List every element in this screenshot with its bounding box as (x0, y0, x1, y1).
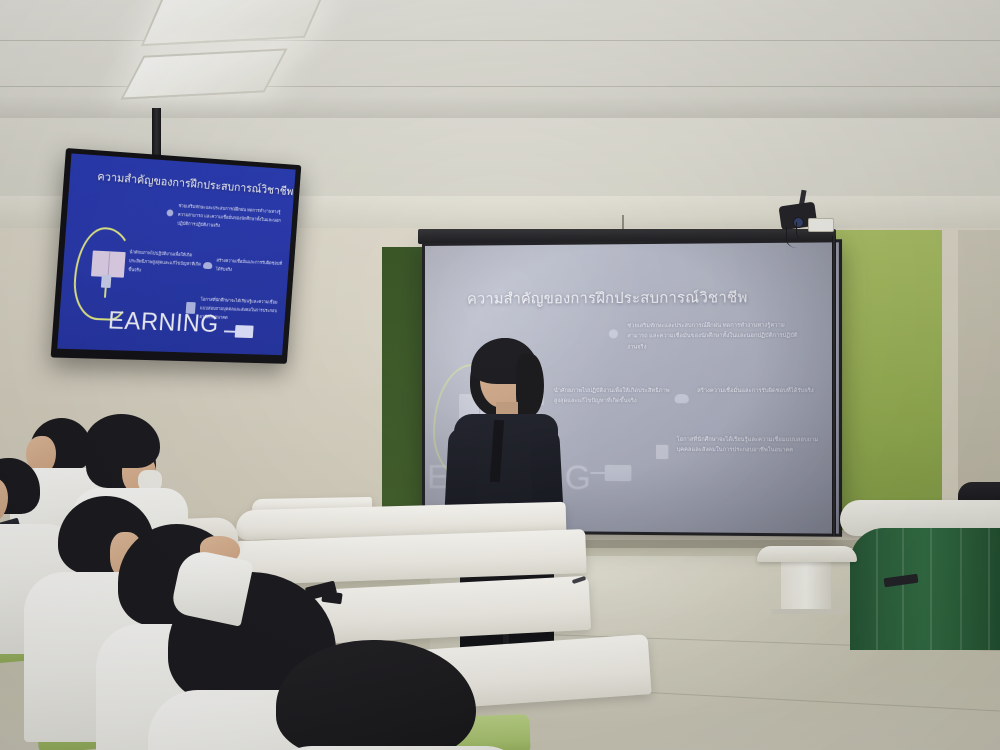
side-table-leg (781, 559, 831, 613)
tv-slide-title: ความสำคัญของการฝึกประสบการณ์วิชาชีพ (97, 168, 294, 201)
projected-block-4-text: โอกาสที่นักศึกษาจะได้เรียนรู้และความเชื่… (677, 435, 823, 457)
projector-drop-pole (832, 236, 836, 536)
small-white-side-table (757, 546, 857, 616)
podium-rib (876, 528, 878, 650)
wall-panel-dark-green (382, 247, 424, 547)
classroom-scene: ความสำคัญของการฝึกประสบการณ์วิชาชีพ ช่วย… (0, 0, 1000, 750)
ceiling-mounted-projector (776, 196, 832, 240)
cloud-icon (203, 262, 213, 269)
side-table-foot (771, 609, 843, 614)
tv-block-1-text: ช่วยเสริมทักษะและประสบการณ์ฝึกฝน ทดการทำ… (177, 202, 287, 234)
plug-icon (235, 325, 254, 338)
student-hair (276, 640, 476, 750)
student-hair (84, 414, 160, 468)
podium-rib (902, 528, 904, 650)
podium-rib (960, 528, 962, 650)
student-raised-arm (200, 536, 280, 616)
projector-cable (796, 222, 818, 240)
tv-logo-text: EARNING (107, 307, 219, 339)
projected-block-3-text: สร้างความเชื่อมั่นและการรับผิดชอบที่ได้ร… (697, 386, 820, 397)
plug-icon (605, 465, 632, 481)
podium-rib (930, 528, 932, 650)
tv-block-2-text: นำศักยภาพไปปฏิบัติงานเพื่อให้เกิดประสิทธ… (128, 248, 207, 277)
book-icon (656, 445, 668, 459)
podium-green-panels (850, 528, 1000, 650)
recessed-light-panel-2 (120, 48, 287, 99)
projected-block-1-text: ช่วยเสริมทักษะและประสบการณ์ฝึกฝน ทดการทำ… (627, 320, 803, 352)
open-book-icon (91, 250, 126, 277)
projected-slide-title: ความสำคัญของการฝึกประสบการณ์วิชาชีพ (467, 286, 748, 311)
sparkle-icon (166, 209, 173, 216)
student-8 (276, 640, 536, 750)
usb-connector-icon (101, 275, 112, 288)
sparkle-icon (609, 329, 618, 338)
side-table-top (757, 546, 857, 562)
tv-screen: ความสำคัญของการฝึกประสบการณ์วิชาชีพ ช่วย… (57, 153, 295, 355)
student-3 (70, 414, 170, 484)
podium-rib (988, 528, 990, 650)
cloud-icon (675, 394, 689, 403)
wall-panel-green (826, 230, 942, 530)
presenter-hair-side (516, 354, 544, 416)
wall-mounted-lcd-tv: ความสำคัญของการฝึกประสบการณ์วิชาชีพ ช่วย… (51, 148, 302, 364)
student-shirt (266, 746, 526, 750)
tv-block-3-text: สร้างความเชื่อมั่นและการรับผิดชอบที่ได้ร… (215, 257, 283, 277)
curved-podium-desk (846, 500, 1000, 670)
